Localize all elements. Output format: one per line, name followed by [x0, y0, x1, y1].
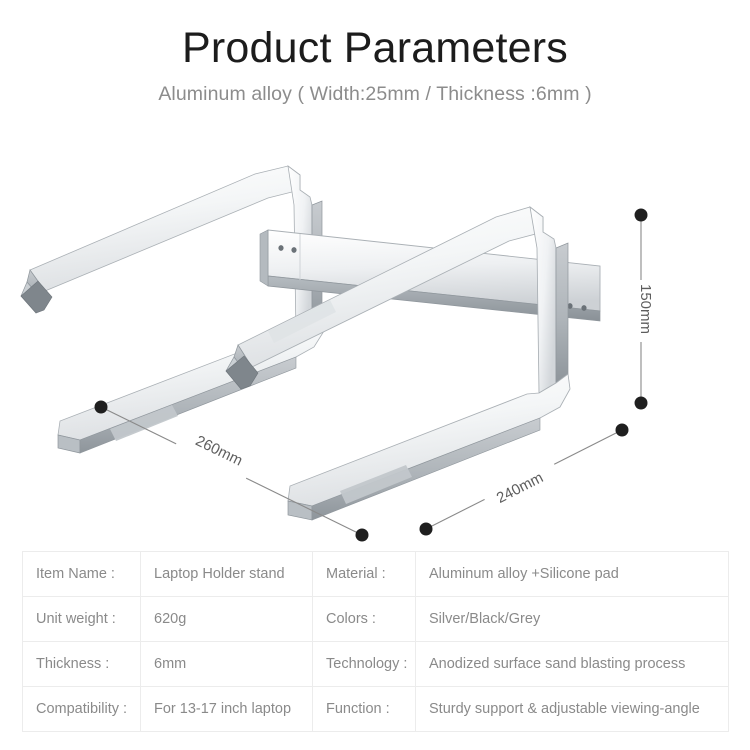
spec-table: Item Name : Laptop Holder stand Material…	[22, 551, 729, 732]
spec-value: 620g	[141, 597, 313, 642]
spec-label: Technology :	[313, 642, 416, 687]
page-title: Product Parameters	[0, 26, 750, 71]
dimension-endpoint-dot	[95, 401, 108, 414]
spec-value: Silver/Black/Grey	[416, 597, 729, 642]
screw-hole	[581, 305, 586, 311]
spec-label: Material :	[313, 552, 416, 597]
dimension-endpoint-dot	[356, 529, 369, 542]
dimension-endpoint-dot	[420, 523, 433, 536]
table-row: Thickness : 6mm Technology : Anodized su…	[23, 642, 729, 687]
stand-back-leg	[21, 166, 324, 453]
dimension-endpoint-dot	[635, 397, 648, 410]
screw-hole	[291, 247, 296, 253]
spec-table-body: Item Name : Laptop Holder stand Material…	[23, 552, 729, 732]
spec-label: Colors :	[313, 597, 416, 642]
spec-value: Sturdy support & adjustable viewing-angl…	[416, 687, 729, 732]
dimension-label-height: 150mm	[637, 284, 654, 334]
table-row: Item Name : Laptop Holder stand Material…	[23, 552, 729, 597]
spec-value: 6mm	[141, 642, 313, 687]
spec-label: Function :	[313, 687, 416, 732]
product-parameters-page: Product Parameters Aluminum alloy ( Widt…	[0, 0, 750, 750]
table-row: Unit weight : 620g Colors : Silver/Black…	[23, 597, 729, 642]
spec-label: Item Name :	[23, 552, 141, 597]
laptop-stand-drawing: 150mm 260mm 240mm	[0, 135, 750, 545]
spec-value: Aluminum alloy +Silicone pad	[416, 552, 729, 597]
dimension-endpoint-dot	[616, 424, 629, 437]
header: Product Parameters Aluminum alloy ( Widt…	[0, 26, 750, 106]
table-row: Compatibility : For 13-17 inch laptop Fu…	[23, 687, 729, 732]
screw-hole	[278, 245, 283, 251]
dimension-endpoint-dot	[635, 209, 648, 222]
page-subtitle: Aluminum alloy ( Width:25mm / Thickness …	[0, 83, 750, 106]
spec-label: Thickness :	[23, 642, 141, 687]
spec-value: Laptop Holder stand	[141, 552, 313, 597]
spec-value: Anodized surface sand blasting process	[416, 642, 729, 687]
product-illustration: 150mm 260mm 240mm	[0, 135, 750, 545]
spec-value: For 13-17 inch laptop	[141, 687, 313, 732]
dimension-height-150mm: 150mm	[628, 209, 654, 410]
spec-label: Unit weight :	[23, 597, 141, 642]
spec-label: Compatibility :	[23, 687, 141, 732]
